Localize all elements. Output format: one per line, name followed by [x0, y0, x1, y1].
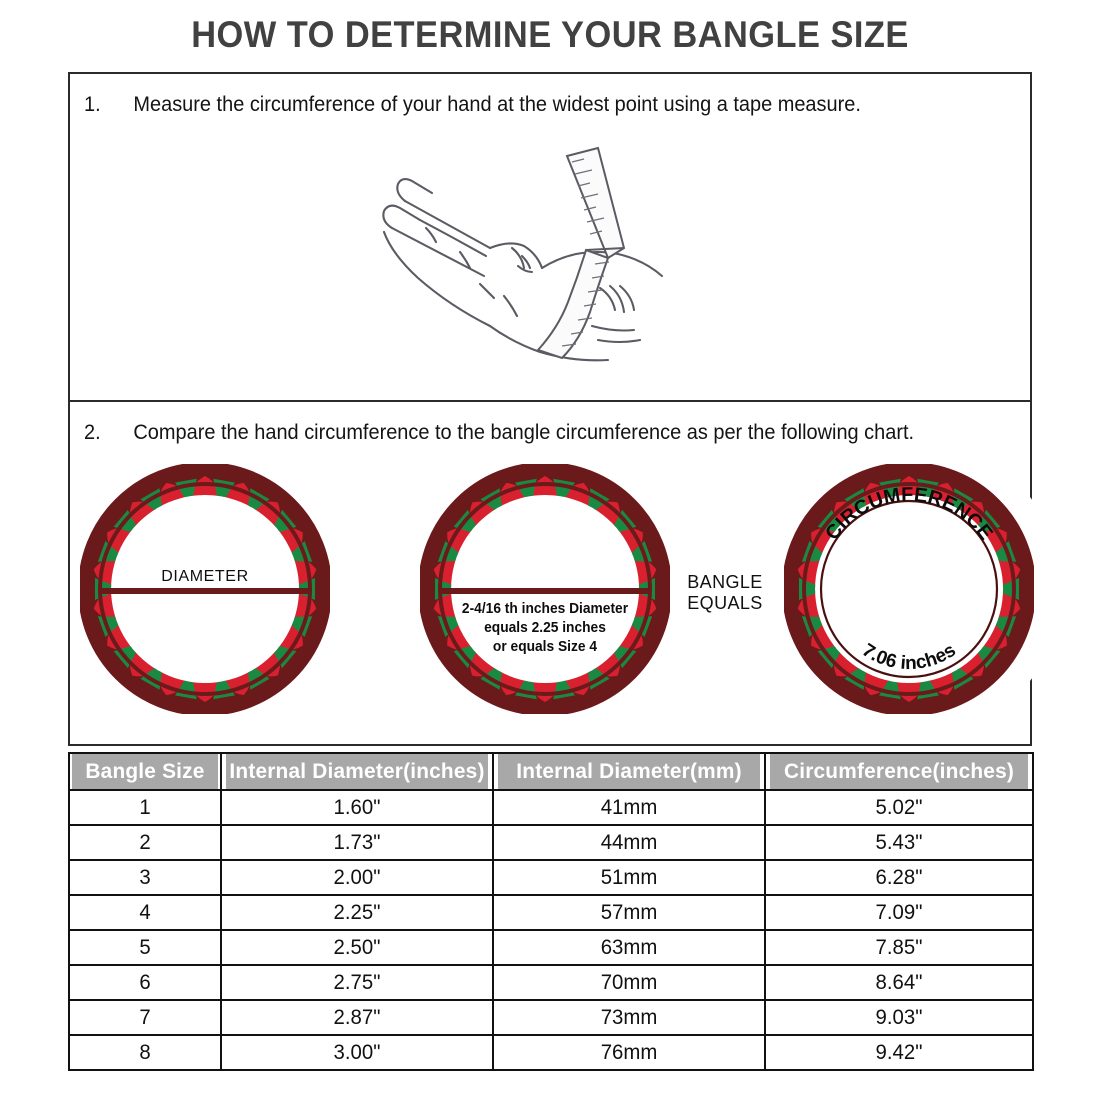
cell-diameter-mm: 51mm — [497, 860, 761, 895]
bangle-size-example-diagram: 2-4/16 th inches Diameter equals 2.25 in… — [420, 464, 670, 714]
step-1-number: 1. — [84, 93, 133, 117]
bangle-diameter-diagram: DIAMETER — [80, 464, 330, 714]
cell-diameter-mm: 63mm — [497, 930, 761, 965]
table-row: 1 1.60" 41mm 5.02" — [69, 790, 1033, 825]
bangle-diagram-row: DIAMETER — [70, 464, 1030, 734]
step-1-section: 1. Measure the circumference of your han… — [70, 74, 1030, 400]
bangle-equals-line-2: EQUALS — [670, 593, 780, 614]
hand-illustration — [362, 136, 702, 386]
cell-circumference-inches: 5.43" — [769, 825, 1029, 860]
bangle-equals-line-1: BANGLE — [670, 572, 780, 593]
cell-bangle-size: 4 — [71, 895, 218, 930]
bangle-size-table: Bangle Size Internal Diameter(inches) In… — [68, 752, 1034, 1071]
table-header-row: Bangle Size Internal Diameter(inches) In… — [69, 753, 1033, 790]
table-row: 6 2.75" 70mm 8.64" — [69, 965, 1033, 1000]
cell-circumference-inches: 6.28" — [769, 860, 1029, 895]
table-body: 1 1.60" 41mm 5.02" 2 1.73" 44mm 5.43" 3 … — [69, 790, 1033, 1070]
cell-circumference-inches: 5.02" — [769, 790, 1029, 825]
cell-circumference-inches: 7.85" — [769, 930, 1029, 965]
cell-circumference-inches: 7.09" — [769, 895, 1029, 930]
table-header-bangle-size: Bangle Size — [71, 753, 218, 790]
cell-diameter-inches: 2.75" — [225, 965, 489, 1000]
cell-diameter-inches: 1.73" — [225, 825, 489, 860]
cell-bangle-size: 5 — [71, 930, 218, 965]
table-header-internal-diameter-inches: Internal Diameter(inches) — [225, 753, 489, 790]
table-row: 3 2.00" 51mm 6.28" — [69, 860, 1033, 895]
table-row: 8 3.00" 76mm 9.42" — [69, 1035, 1033, 1070]
table-header-circumference-inches: Circumference(inches) — [769, 753, 1029, 790]
cell-diameter-mm: 41mm — [497, 790, 761, 825]
table-row: 4 2.25" 57mm 7.09" — [69, 895, 1033, 930]
cell-diameter-mm: 44mm — [497, 825, 761, 860]
cell-bangle-size: 2 — [71, 825, 218, 860]
step-2-number: 2. — [84, 421, 133, 445]
cell-bangle-size: 8 — [71, 1035, 218, 1070]
cell-diameter-inches: 2.50" — [225, 930, 489, 965]
cell-diameter-inches: 2.00" — [225, 860, 489, 895]
cell-bangle-size: 7 — [71, 1000, 218, 1035]
table-row: 2 1.73" 44mm 5.43" — [69, 825, 1033, 860]
cell-diameter-inches: 1.60" — [225, 790, 489, 825]
cell-bangle-size: 3 — [71, 860, 218, 895]
cell-circumference-inches: 9.03" — [769, 1000, 1029, 1035]
bangle-circumference-diagram: CIRCUMFERENCE 7.06 inches — [784, 464, 1034, 714]
step-2-section: 2. Compare the hand circumference to the… — [70, 400, 1030, 746]
cell-diameter-inches: 2.25" — [225, 895, 489, 930]
cell-diameter-mm: 57mm — [497, 895, 761, 930]
table-header-internal-diameter-mm: Internal Diameter(mm) — [497, 753, 761, 790]
bangle-equals-label: BANGLE EQUALS — [670, 572, 780, 614]
cell-diameter-mm: 76mm — [497, 1035, 761, 1070]
instructions-frame: 1. Measure the circumference of your han… — [68, 72, 1032, 746]
table-row: 7 2.87" 73mm 9.03" — [69, 1000, 1033, 1035]
table-row: 5 2.50" 63mm 7.85" — [69, 930, 1033, 965]
cell-circumference-inches: 9.42" — [769, 1035, 1029, 1070]
step-1-text: Measure the circumference of your hand a… — [133, 93, 973, 117]
cell-circumference-inches: 8.64" — [769, 965, 1029, 1000]
step-1-line: 1. Measure the circumference of your han… — [84, 93, 973, 117]
cell-diameter-inches: 3.00" — [225, 1035, 489, 1070]
page-title: HOW TO DETERMINE YOUR BANGLE SIZE — [39, 14, 1062, 56]
cell-bangle-size: 6 — [71, 965, 218, 1000]
cell-diameter-inches: 2.87" — [225, 1000, 489, 1035]
step-2-text: Compare the hand circumference to the ba… — [133, 421, 973, 445]
step-2-line: 2. Compare the hand circumference to the… — [84, 421, 973, 445]
cell-diameter-mm: 73mm — [497, 1000, 761, 1035]
cell-diameter-mm: 70mm — [497, 965, 761, 1000]
cell-bangle-size: 1 — [71, 790, 218, 825]
